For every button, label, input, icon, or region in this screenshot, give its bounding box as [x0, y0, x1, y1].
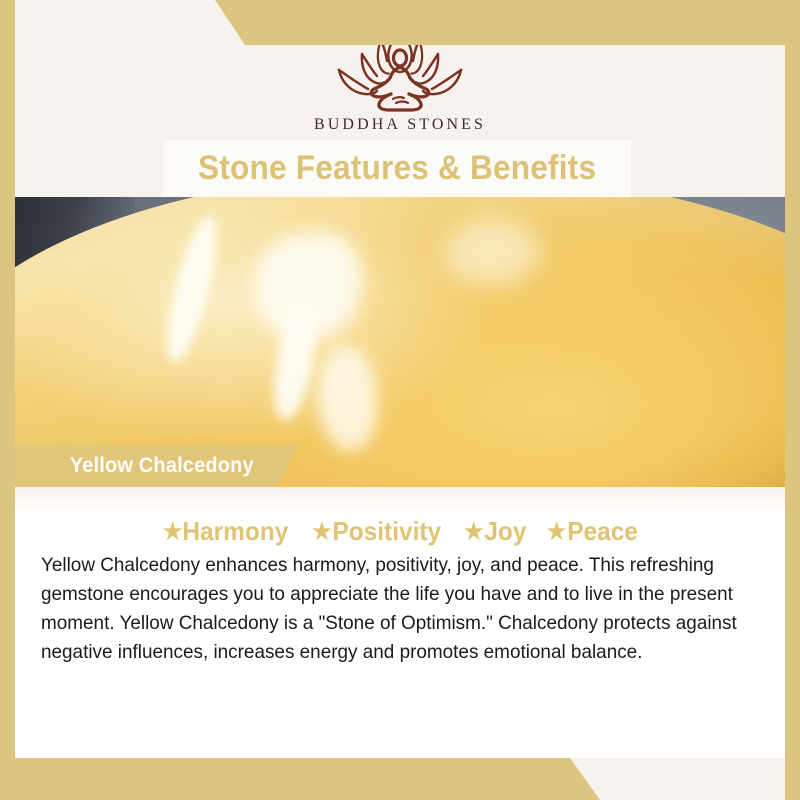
keyword-joy: ★ Joy [464, 516, 526, 547]
stone-name-badge: Yellow Chalcedony [15, 445, 299, 487]
keyword-label: Joy [484, 516, 526, 547]
gold-border-bottom [0, 758, 800, 800]
keyword-list: ★ Harmony ★ Positivity ★ Joy ★ Peace [15, 516, 785, 547]
keyword-label: Positivity [333, 516, 442, 547]
yellow-chalcedony-stone [15, 197, 785, 487]
stone-name-label: Yellow Chalcedony [70, 454, 254, 478]
page-title: Stone Features & Benefits [198, 149, 596, 188]
keyword-harmony: ★ Harmony [163, 516, 288, 547]
keyword-positivity: ★ Positivity [313, 516, 442, 547]
star-icon: ★ [464, 520, 483, 543]
keyword-label: Peace [567, 516, 638, 547]
star-icon: ★ [163, 520, 182, 543]
description-paragraph: Yellow Chalcedony enhances harmony, posi… [41, 551, 737, 667]
gold-border-right [785, 0, 800, 800]
star-icon: ★ [547, 520, 566, 543]
star-icon: ★ [313, 520, 332, 543]
content-top-fade [15, 487, 785, 513]
stone-highlight [445, 219, 541, 285]
keyword-label: Harmony [182, 516, 288, 547]
brand-name: BUDDHA STONES [314, 116, 486, 134]
content-panel: ★ Harmony ★ Positivity ★ Joy ★ Peace Yel… [15, 487, 785, 758]
gold-border-left [0, 0, 15, 800]
stone-grain-texture [15, 197, 785, 487]
keyword-peace: ★ Peace [547, 516, 638, 547]
infographic-card: Yellow Chalcedony [0, 0, 800, 800]
title-banner: Stone Features & Benefits [163, 140, 631, 197]
stone-photo: Yellow Chalcedony [15, 197, 785, 487]
